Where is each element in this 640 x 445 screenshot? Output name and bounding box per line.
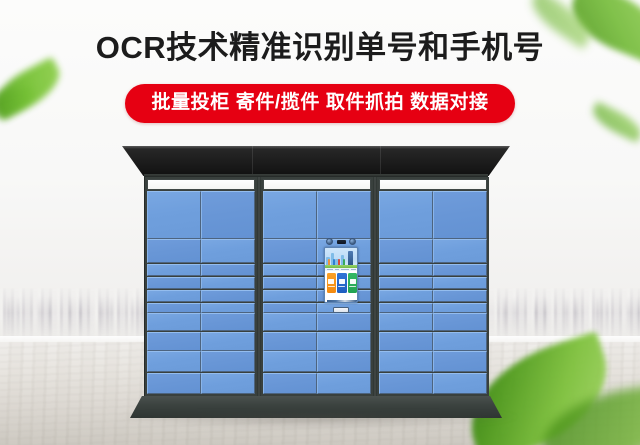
box-icon [328, 279, 334, 284]
locker-door[interactable] [317, 191, 371, 239]
locker-door[interactable] [147, 191, 201, 239]
locker-door[interactable] [201, 332, 255, 351]
locker-door[interactable] [433, 313, 487, 331]
locker-door[interactable] [379, 313, 433, 331]
bank-header-panel [379, 179, 487, 190]
canopy-roof [122, 146, 510, 176]
locker-door[interactable] [433, 277, 487, 290]
locker-door[interactable] [147, 373, 201, 395]
locker-door[interactable] [379, 351, 433, 372]
banner-stage: OCR技术精准识别单号和手机号 批量投柜 寄件/揽件 取件抓拍 数据对接 [0, 0, 640, 445]
locker-door[interactable] [201, 373, 255, 395]
screen-button-deposit-label [328, 286, 335, 288]
locker-door[interactable] [317, 373, 371, 395]
locker-door[interactable] [147, 351, 201, 372]
locker-door[interactable] [147, 264, 201, 277]
locker-door[interactable] [147, 332, 201, 351]
locker-door[interactable] [263, 290, 317, 303]
locker-door[interactable] [317, 332, 371, 351]
truck-icon [350, 279, 356, 284]
locker-door[interactable] [147, 239, 201, 263]
feature-pill-wrap: 批量投柜 寄件/揽件 取件抓拍 数据对接 [0, 84, 640, 123]
screen-button-pickup-label [338, 286, 345, 288]
locker-door[interactable] [379, 303, 433, 313]
locker-door[interactable] [201, 351, 255, 372]
locker-door[interactable] [433, 239, 487, 263]
locker-door[interactable] [379, 239, 433, 263]
locker-door[interactable] [433, 303, 487, 313]
locker-door[interactable] [379, 290, 433, 303]
screen-hero-illustration [325, 248, 357, 268]
locker-door[interactable] [147, 313, 201, 331]
locker-door[interactable] [147, 290, 201, 303]
feature-pill: 批量投柜 寄件/揽件 取件抓拍 数据对接 [125, 84, 514, 123]
locker-door[interactable] [379, 332, 433, 351]
locker-door[interactable] [379, 373, 433, 395]
locker-door[interactable] [263, 332, 317, 351]
locker-door[interactable] [263, 239, 317, 263]
parcel-icon [339, 279, 345, 284]
cabinet-ground-shadow [118, 414, 518, 428]
screen-button-send[interactable] [348, 273, 357, 293]
locker-door[interactable] [201, 303, 255, 313]
locker-door[interactable] [433, 290, 487, 303]
locker-door[interactable] [263, 303, 317, 313]
locker-door[interactable] [379, 277, 433, 290]
locker-door[interactable] [263, 191, 317, 239]
locker-door[interactable] [263, 373, 317, 395]
locker-door[interactable] [379, 191, 433, 239]
screen-button-send-label [349, 286, 356, 288]
sensor-slot-icon [337, 240, 346, 244]
screen-action-buttons [327, 273, 358, 293]
locker-door[interactable] [201, 191, 255, 239]
locker-door[interactable] [263, 277, 317, 290]
locker-door[interactable] [201, 277, 255, 290]
kiosk-screen[interactable] [324, 247, 358, 303]
camera-icon-left [326, 238, 333, 245]
locker-door[interactable] [263, 313, 317, 331]
page-title: OCR技术精准识别单号和手机号 [0, 28, 640, 68]
cabinet-body [144, 176, 488, 396]
locker-door[interactable] [433, 191, 487, 239]
kiosk-terminal[interactable] [322, 236, 360, 322]
screen-button-deposit[interactable] [327, 273, 336, 293]
locker-door[interactable] [433, 264, 487, 277]
locker-door[interactable] [433, 351, 487, 372]
bank-header-panel [263, 179, 371, 190]
kiosk-sensor-bar [324, 237, 358, 245]
locker-door[interactable] [201, 264, 255, 277]
locker-door[interactable] [379, 264, 433, 277]
barcode-scanner-slot[interactable] [333, 307, 349, 313]
locker-door[interactable] [263, 351, 317, 372]
locker-door[interactable] [201, 313, 255, 331]
locker-door[interactable] [317, 351, 371, 372]
canopy-seam [380, 146, 381, 176]
screen-footer [325, 297, 357, 302]
screen-footer-bar [327, 300, 357, 302]
bank-header-panel [147, 179, 255, 190]
locker-door[interactable] [147, 303, 201, 313]
screen-ticker [325, 268, 357, 271]
locker-door[interactable] [201, 290, 255, 303]
locker-door[interactable] [147, 277, 201, 290]
screen-button-pickup[interactable] [337, 273, 346, 293]
camera-icon-right [349, 238, 356, 245]
locker-door[interactable] [263, 264, 317, 277]
locker-door[interactable] [201, 239, 255, 263]
canopy-seam [252, 146, 253, 176]
locker-door[interactable] [433, 373, 487, 395]
locker-door[interactable] [433, 332, 487, 351]
canopy-highlight [122, 146, 510, 149]
